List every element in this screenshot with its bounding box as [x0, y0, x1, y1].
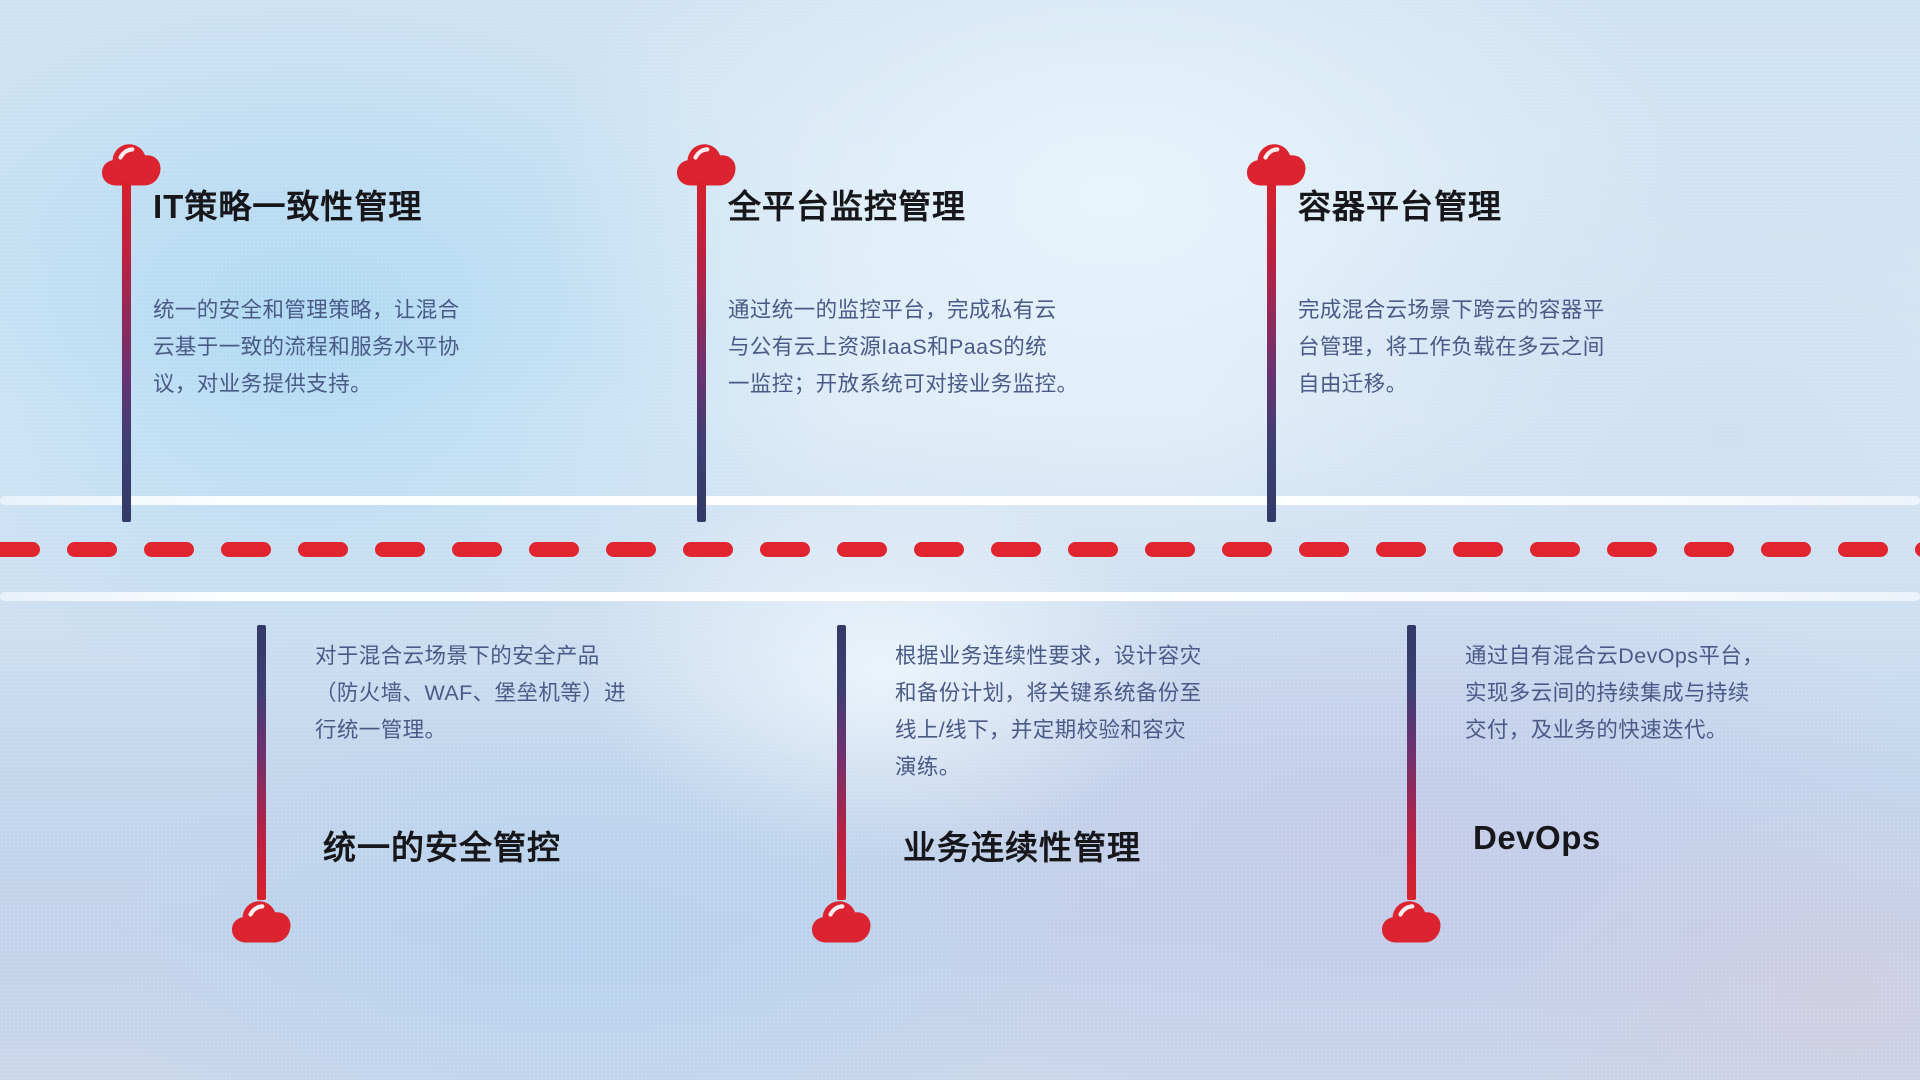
- card-title: DevOps: [1473, 819, 1601, 857]
- road-center-dash: [1838, 542, 1888, 557]
- road-center-dash: [221, 542, 271, 557]
- card-title: IT策略一致性管理: [153, 180, 422, 228]
- road-center-dash: [1684, 542, 1734, 557]
- card-title: 全平台监控管理: [728, 180, 966, 228]
- card-title: 容器平台管理: [1298, 180, 1502, 228]
- card-description: 通过自有混合云DevOps平台， 实现多云间的持续集成与持续 交付，及业务的快速…: [1465, 638, 1885, 749]
- road-center-dash: [683, 542, 733, 557]
- road-center-dash: [760, 542, 810, 557]
- road-center-dash: [1761, 542, 1811, 557]
- cloud-icon: [230, 897, 292, 945]
- card-title: 统一的安全管控: [323, 821, 561, 869]
- road-center-dash: [991, 542, 1041, 557]
- card-description: 根据业务连续性要求，设计容灾 和备份计划，将关键系统备份至 线上/线下，并定期校…: [895, 638, 1315, 786]
- road-center-dash: [1222, 542, 1272, 557]
- road-center-dash: [0, 542, 40, 557]
- road-center-dash: [375, 542, 425, 557]
- road-center-dash: [1376, 542, 1426, 557]
- road-center-dash: [914, 542, 964, 557]
- road-center-dash: [1915, 542, 1920, 557]
- road-center-dash: [67, 542, 117, 557]
- road-line-upper: [0, 496, 1920, 505]
- cloud-icon: [1380, 897, 1442, 945]
- road-center-dash: [1299, 542, 1349, 557]
- road-center-dash: [1453, 542, 1503, 557]
- infographic-canvas: IT策略一致性管理 统一的安全和管理策略，让混合 云基于一致的流程和服务水平协 …: [0, 0, 1920, 1080]
- road-center-dash: [298, 542, 348, 557]
- card-description: 完成混合云场景下跨云的容器平 台管理，将工作负载在多云之间 自由迁移。: [1298, 292, 1718, 403]
- card-stem: [1407, 625, 1416, 900]
- card-description: 通过统一的监控平台，完成私有云 与公有云上资源IaaS和PaaS的统 一监控；开…: [728, 292, 1148, 403]
- road-line-lower: [0, 592, 1920, 601]
- card-stem: [1267, 182, 1276, 522]
- road-center-dash: [1530, 542, 1580, 557]
- road-center-dash: [606, 542, 656, 557]
- card-description: 对于混合云场景下的安全产品 （防火墙、WAF、堡垒机等）进 行统一管理。: [315, 638, 735, 749]
- road-center-dashes: [0, 541, 1920, 558]
- card-stem: [697, 182, 706, 522]
- card-stem: [837, 625, 846, 900]
- road-center-dash: [1607, 542, 1657, 557]
- road-center-dash: [1145, 542, 1195, 557]
- road-center-dash: [144, 542, 194, 557]
- road-center-dash: [1068, 542, 1118, 557]
- card-stem: [122, 182, 131, 522]
- road-center-dash: [452, 542, 502, 557]
- card-stem: [257, 625, 266, 900]
- card-description: 统一的安全和管理策略，让混合 云基于一致的流程和服务水平协 议，对业务提供支持。: [153, 292, 573, 403]
- cloud-icon: [810, 897, 872, 945]
- road-center-dash: [837, 542, 887, 557]
- card-title: 业务连续性管理: [903, 821, 1141, 869]
- road-center-dash: [529, 542, 579, 557]
